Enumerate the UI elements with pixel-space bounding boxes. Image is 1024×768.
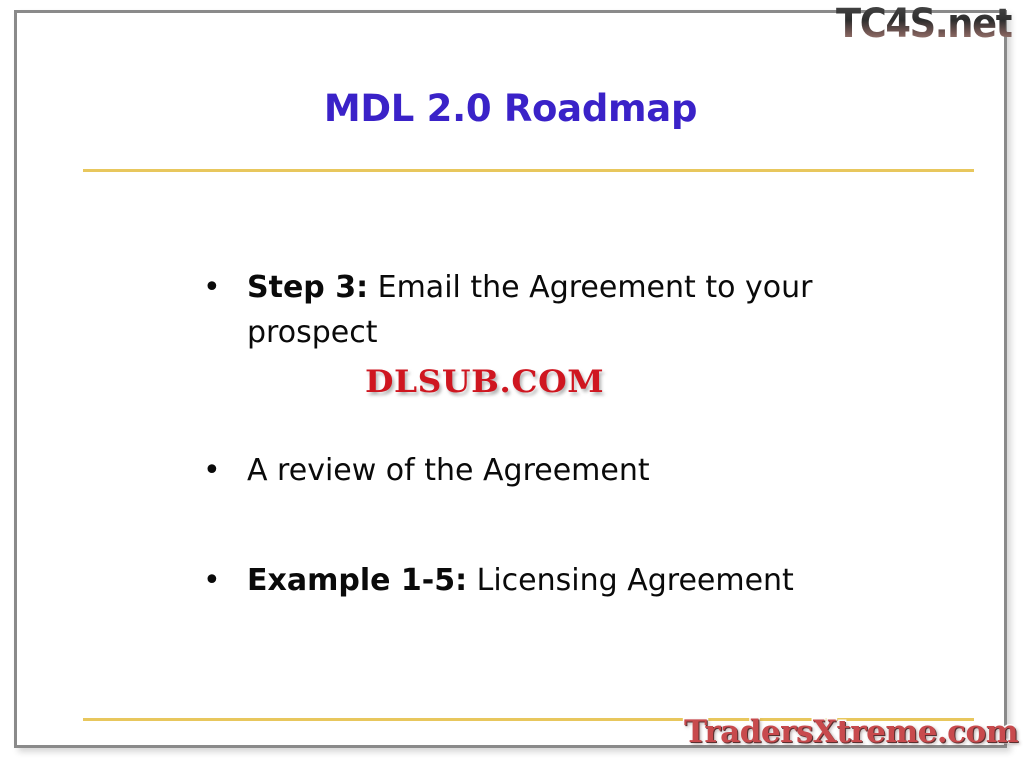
page-title: MDL 2.0 Roadmap: [17, 87, 1004, 130]
bullet-point-icon: •: [203, 448, 217, 493]
list-item-label: Step 3:: [247, 270, 368, 305]
list-item-text: Licensing Agreement: [467, 563, 794, 598]
divider-top: [83, 169, 974, 172]
bullet-list: • Step 3: Email the Agreement to your pr…: [17, 265, 1004, 603]
list-item-label: Example 1-5:: [247, 563, 467, 598]
list-item: • A review of the Agreement: [17, 448, 1004, 493]
watermark-tradersxtreme: TradersXtreme.com: [684, 714, 1018, 750]
watermark-tc4s: TC4S.net: [836, 2, 1012, 46]
bullet-point-icon: •: [203, 265, 217, 310]
bullet-point-icon: •: [203, 558, 217, 603]
watermark-dlsub: DLSUB.COM: [365, 364, 604, 400]
list-item: • Example 1-5: Licensing Agreement: [17, 558, 1004, 603]
list-item: • Step 3: Email the Agreement to your pr…: [17, 265, 1004, 355]
list-item-text: A review of the Agreement: [247, 453, 650, 488]
